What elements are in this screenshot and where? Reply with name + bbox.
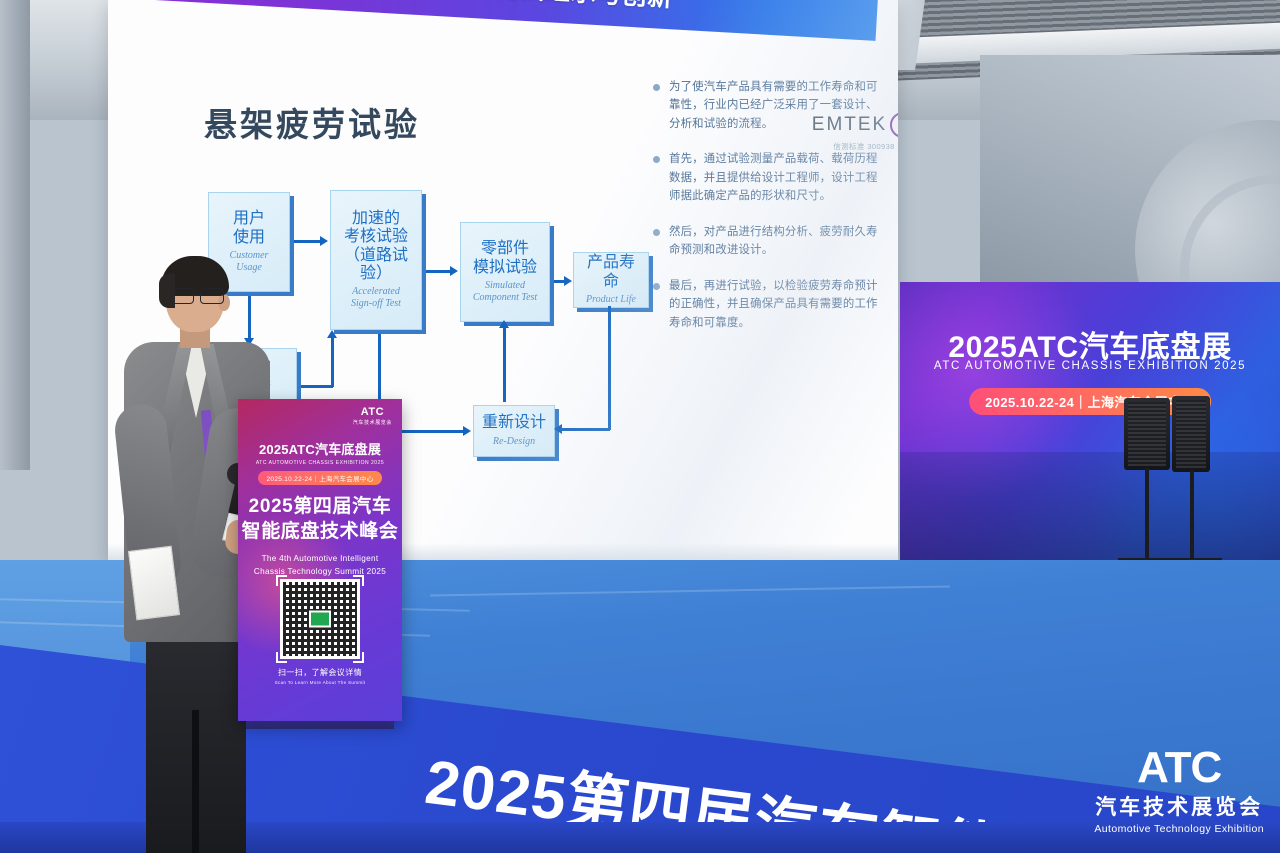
poster-corner-logo: ATC 汽车技术展览会	[353, 406, 392, 426]
flow-arrowhead-3	[564, 276, 572, 286]
atc-logo-en: Automotive Technology Exhibition	[1094, 823, 1264, 835]
flow-box-accelerated-signoff: 加速的 考核试验 （道路试验） Accelerated Sign-off Tes…	[330, 190, 422, 330]
flow-box-label-en: Re-Design	[493, 436, 535, 448]
flow-box-label-zh: 用户 使用	[233, 210, 265, 247]
bullet-item: 然后，对产品进行结构分析、疲劳耐久寿命预测和改进设计。	[653, 223, 883, 260]
flow-box-label-en: Product Life	[586, 294, 636, 306]
bullet-text: 首先，通过试验测量产品载荷、载荷历程数据，并且提供给设计工程师，设计工程师据此确…	[669, 150, 883, 205]
venue-pillar-left	[0, 0, 30, 470]
flow-box-label-zh: 加速的 考核试验 （道路试验）	[337, 210, 415, 284]
flow-box-label-en: Simulated Component Test	[473, 280, 537, 304]
presenter-held-paper	[128, 546, 180, 621]
screenshot-root: 02智能底盘悬架与传统悬架共性测试继承与创新 悬架疲劳试验 EMTEK 信测标准…	[0, 0, 1280, 853]
flow-arrowhead-6	[463, 426, 471, 436]
poster-corner-logo-zh: 汽车技术展览会	[353, 419, 392, 426]
flow-box-label-zh: 产品寿命	[580, 254, 642, 291]
poster-scan-caption-en: Scan To Learn More About The Summit	[238, 680, 402, 685]
bullet-text: 为了使汽车产品具有需要的工作寿命和可靠性，行业内已经广泛采用了一套设计、分析和试…	[669, 78, 883, 133]
qr-code-logo	[309, 611, 331, 628]
pa-speaker-right	[1172, 396, 1210, 472]
bullet-text: 然后，对产品进行结构分析、疲劳耐久寿命预测和改进设计。	[669, 223, 883, 260]
qr-corner-marker	[276, 575, 287, 586]
flow-box-label-zh: 重新设计	[482, 414, 546, 432]
bullet-text: 最后，再进行试验，以检验疲劳寿命预计的正确性，并且确保产品具有需要的工作寿命和可…	[669, 277, 883, 332]
bullet-dot-icon	[653, 229, 660, 236]
wall-banner-lower-strip	[900, 452, 1280, 570]
speaker-stand-right	[1190, 470, 1194, 562]
bullet-dot-icon	[653, 156, 660, 163]
presenter-glasses	[170, 288, 224, 303]
atc-logo-mark: ATC	[1094, 747, 1264, 789]
atc-logo-zh: 汽车技术展览会	[1094, 791, 1264, 821]
flow-arrowhead-1	[320, 236, 328, 246]
wall-banner-subtitle: ATC AUTOMOTIVE CHASSIS EXHIBITION 2025	[900, 360, 1280, 372]
wall-banner: 2025ATC汽车底盘展 ATC AUTOMOTIVE CHASSIS EXHI…	[900, 282, 1280, 570]
bullet-item: 最后，再进行试验，以检验疲劳寿命预计的正确性，并且确保产品具有需要的工作寿命和可…	[653, 277, 883, 332]
qr-corner-marker	[353, 575, 364, 586]
poster-summit-title: 2025第四届汽车 智能底盘技术峰会 The 4th Automotive In…	[238, 494, 402, 579]
event-poster: ATC 汽车技术展览会 2025ATC汽车底盘展 ATC AUTOMOTIVE …	[238, 399, 402, 721]
flow-box-product-life: 产品寿命 Product Life	[573, 252, 649, 308]
poster-event-date-badge: 2025.10.22-24｜上海汽车会展中心	[258, 471, 381, 485]
flow-arrowhead-2	[450, 266, 458, 276]
bullet-dot-icon	[653, 283, 660, 290]
bullet-item: 首先，通过试验测量产品载荷、载荷历程数据，并且提供给设计工程师，设计工程师据此确…	[653, 150, 883, 205]
flow-arrow-2	[426, 270, 452, 273]
atc-logo: ATC 汽车技术展览会 Automotive Technology Exhibi…	[1094, 747, 1264, 835]
poster-scan-caption: 扫一扫，了解会议详情 Scan To Learn More About The …	[238, 667, 402, 685]
flow-arrow-11	[560, 428, 610, 431]
flow-box-label-zh: 零部件 模拟试验	[473, 240, 537, 277]
poster-qr-code[interactable]	[280, 579, 360, 659]
bullet-item: 为了使汽车产品具有需要的工作寿命和可靠性，行业内已经广泛采用了一套设计、分析和试…	[653, 78, 883, 133]
poster-summit-zh-line1: 2025第四届汽车	[238, 494, 402, 519]
poster-scan-caption-zh: 扫一扫，了解会议详情	[238, 667, 402, 678]
speaker-stand-left	[1145, 468, 1149, 562]
pa-speaker-left	[1124, 398, 1170, 470]
poster-corner-logo-mark: ATC	[353, 406, 392, 418]
qr-corner-marker	[353, 652, 364, 663]
flow-arrowhead-5	[327, 330, 337, 338]
flow-arrowhead-8	[554, 424, 562, 434]
presenter-leg-split	[192, 710, 199, 853]
flow-arrow-10	[608, 306, 611, 430]
poster-summit-en-line1: The 4th Automotive Intelligent	[238, 553, 402, 565]
flow-box-redesign: 重新设计 Re-Design	[473, 405, 555, 457]
flow-box-simulated-component: 零部件 模拟试验 Simulated Component Test	[460, 222, 550, 322]
flow-arrow-5	[301, 385, 333, 388]
poster-event-title-en: ATC AUTOMOTIVE CHASSIS EXHIBITION 2025	[238, 460, 402, 466]
flow-arrow-9	[503, 326, 506, 402]
flow-arrow-6	[331, 334, 334, 387]
poster-event-title-zh: 2025ATC汽车底盘展	[238, 439, 402, 458]
bullet-dot-icon	[653, 84, 660, 91]
flow-arrowhead-7	[499, 320, 509, 328]
poster-event-header: 2025ATC汽车底盘展 ATC AUTOMOTIVE CHASSIS EXHI…	[238, 439, 402, 486]
flow-arrow-1	[294, 240, 322, 243]
poster-summit-en-line2: Chassis Technology Summit 2025	[238, 566, 402, 578]
poster-summit-zh-line2: 智能底盘技术峰会	[238, 519, 402, 544]
flow-box-label-en: Accelerated Sign-off Test	[351, 286, 401, 310]
qr-corner-marker	[276, 652, 287, 663]
slide-bullet-list: 为了使汽车产品具有需要的工作寿命和可靠性，行业内已经广泛采用了一套设计、分析和试…	[653, 78, 883, 349]
